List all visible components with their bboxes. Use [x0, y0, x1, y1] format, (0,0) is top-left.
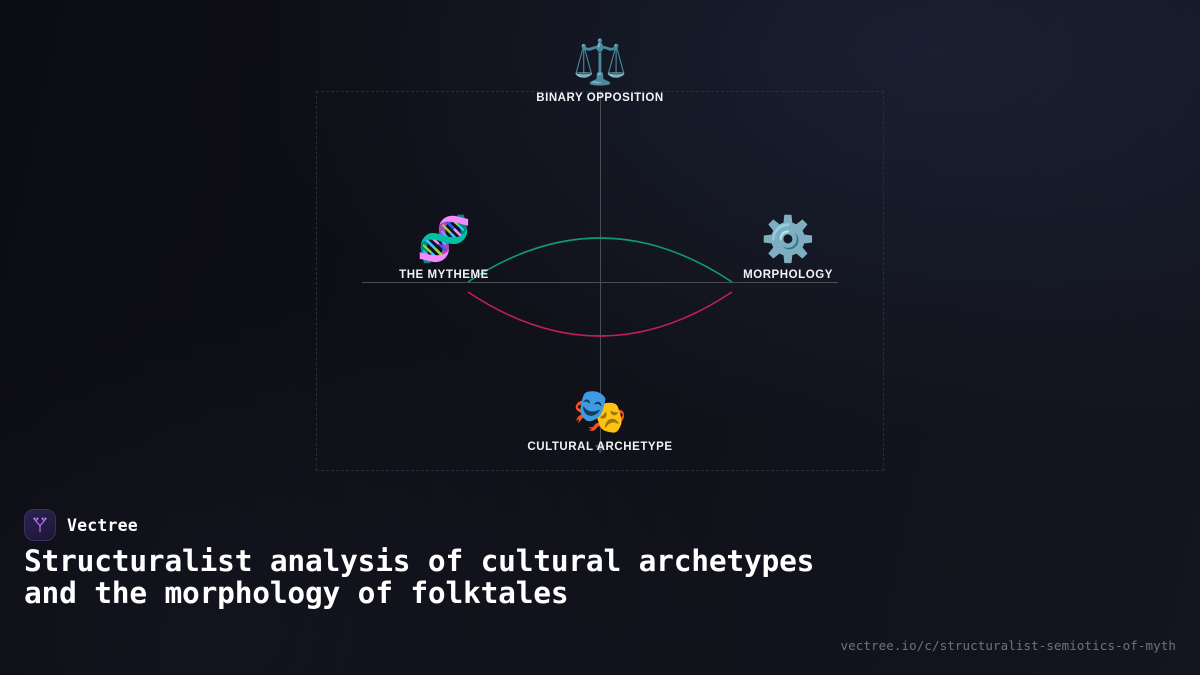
curve-arc-up — [468, 238, 732, 282]
gear-icon: ⚙️ — [743, 218, 833, 262]
vectree-mark-svg — [30, 515, 50, 535]
share-url: vectree.io/c/structuralist-semiotics-of-… — [840, 638, 1176, 653]
theater-masks-icon: 🎭 — [527, 390, 672, 434]
curve-arc-down — [468, 292, 732, 336]
semiotic-square-diagram: ⚖️ BINARY OPPOSITION 🧬 THE MYTHEME ⚙️ MO… — [316, 91, 884, 471]
footer-branding: Vectree Structuralist analysis of cultur… — [0, 495, 1200, 675]
vectree-logo-icon — [24, 509, 56, 541]
node-label: BINARY OPPOSITION — [536, 92, 664, 104]
brand-name: Vectree — [67, 516, 138, 535]
node-label: MORPHOLOGY — [743, 269, 833, 281]
node-cultural-archetype[interactable]: 🎭 CULTURAL ARCHETYPE — [527, 390, 672, 453]
node-morphology[interactable]: ⚙️ MORPHOLOGY — [743, 218, 833, 281]
node-the-mytheme[interactable]: 🧬 THE MYTHEME — [399, 218, 489, 281]
brand-row[interactable]: Vectree — [24, 509, 138, 541]
node-label: CULTURAL ARCHETYPE — [527, 441, 672, 453]
dna-icon: 🧬 — [399, 218, 489, 262]
node-binary-opposition[interactable]: ⚖️ BINARY OPPOSITION — [536, 41, 664, 104]
node-label: THE MYTHEME — [399, 269, 489, 281]
balance-scale-icon: ⚖️ — [536, 41, 664, 85]
page-title: Structuralist analysis of cultural arche… — [24, 545, 824, 609]
